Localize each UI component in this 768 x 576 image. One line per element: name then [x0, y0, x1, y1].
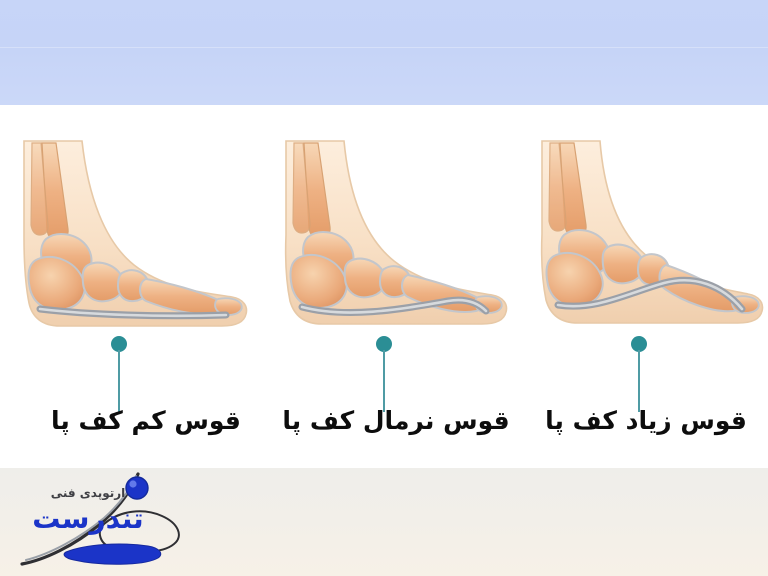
footer-band: ارتوپدی فنی تندرست: [0, 468, 768, 576]
brand-name: تندرست: [22, 503, 154, 535]
caption-normal-arch: قوس نرمال کف پا: [262, 398, 530, 444]
foot-illustration-high-arch: [508, 133, 768, 363]
brand-wordmark: ارتوپدی فنی تندرست: [22, 486, 154, 535]
caption-high-arch: قوس زیاد کف پا: [528, 398, 764, 444]
infographic-poster: قوس کم کف پا قوس نرمال کف پا قوس زیاد کف…: [0, 0, 768, 576]
caption-low-arch: قوس کم کف پا: [30, 398, 262, 444]
normal-arch-foot-icon: [252, 133, 514, 363]
high-arch-foot-icon: [508, 133, 768, 363]
banner-seam: [0, 47, 768, 48]
foot-illustration-normal-arch: [252, 133, 514, 363]
logo-blue-sole: [64, 544, 161, 564]
top-banner: [0, 0, 768, 105]
low-arch-foot-icon: [0, 133, 256, 363]
foot-illustration-low-arch: [0, 133, 256, 363]
caption-row: قوس کم کف پا قوس نرمال کف پا قوس زیاد کف…: [0, 398, 768, 450]
brand-tagline: ارتوپدی فنی: [22, 486, 154, 501]
brand-logo: ارتوپدی فنی تندرست: [8, 468, 248, 576]
